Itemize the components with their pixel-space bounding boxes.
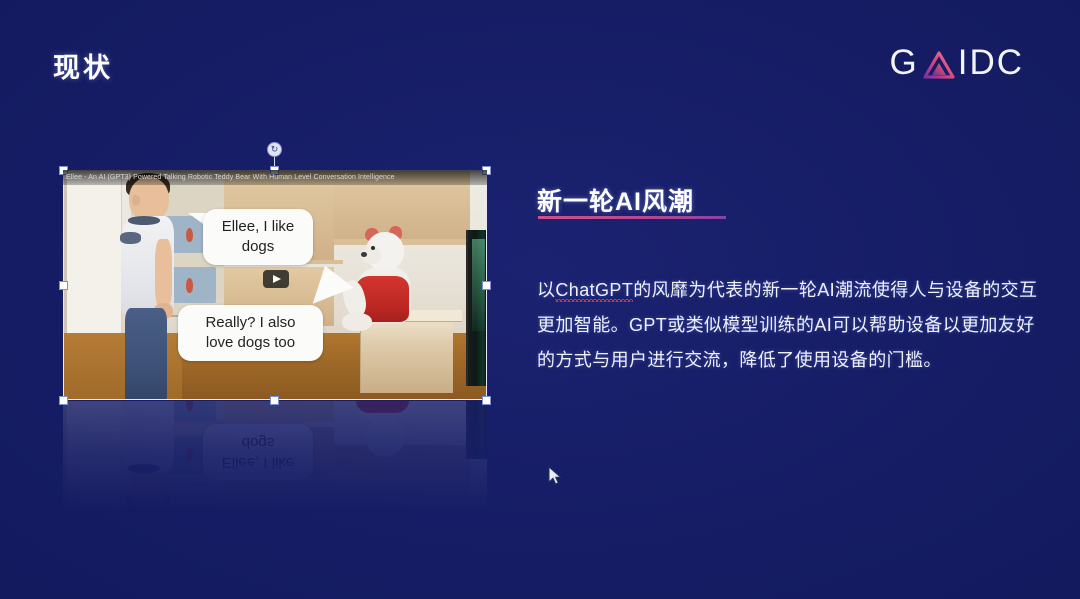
wooden-bench [360,317,453,393]
logo-triangle-a-icon [922,50,956,80]
speech-bubble-bear: Really? I also love dogs too [178,305,323,361]
presentation-slide: 现状 G IDC 新一轮AI风潮 以ChatGPT的风靡为代表的新一轮AI潮流使… [0,0,1080,599]
video-title-bar: Ellee - An AI (GPT3) Powered Talking Rob… [63,170,487,185]
logo-letters-idc: IDC [958,45,1024,80]
boy-arm [155,239,172,308]
speech-bubble-boy: Ellee, I like dogs [203,209,313,265]
resize-handle-bottom-center[interactable] [270,396,279,405]
rotate-handle[interactable]: ↻ [267,142,282,157]
misspelled-word-chatgpt: ChatGPT [555,280,633,302]
boy-collar [128,216,160,224]
resize-handle-middle-right[interactable] [482,281,491,290]
reflection-scene: Ellee, I like dogs Really? I also love d… [63,401,487,519]
door [67,175,122,336]
logo-letter-g: G [889,45,918,80]
reflection-mirror: Ellee, I like dogs Really? I also love d… [63,401,487,519]
page-title: 现状 [53,46,113,85]
section-heading: 新一轮AI风潮 [537,182,694,218]
video-thumbnail-object[interactable]: Ellee, I like dogs Really? I also love d… [63,170,487,400]
reflection-bubble-boy: Ellee, I like dogs [203,424,313,480]
boy-ear [132,195,140,205]
gaidc-logo: G IDC [889,40,1024,84]
boy-sleeve [120,232,141,244]
teddy-leg [342,313,372,331]
play-button[interactable] [263,270,289,288]
teddy-nose [361,252,367,258]
arrow-cursor [548,466,562,486]
shelf-edge-right [334,239,478,245]
body-paragraph: 以ChatGPT的风靡为代表的新一轮AI潮流使得人与设备的交互更加智能。GPT或… [537,273,1050,378]
resize-handle-bottom-left[interactable] [59,396,68,405]
body-text-pre: 以 [537,280,555,300]
play-icon [273,275,281,283]
resize-handle-bottom-right[interactable] [482,396,491,405]
video-thumbnail-image[interactable]: Ellee, I like dogs Really? I also love d… [63,170,487,400]
rotate-icon: ↻ [271,145,279,154]
resize-handle-middle-left[interactable] [59,281,68,290]
reflection-tint [63,401,487,519]
heading-underline [538,216,726,219]
boy-pants [125,308,167,400]
picture-reflection: Ellee, I like dogs Really? I also love d… [63,401,487,519]
